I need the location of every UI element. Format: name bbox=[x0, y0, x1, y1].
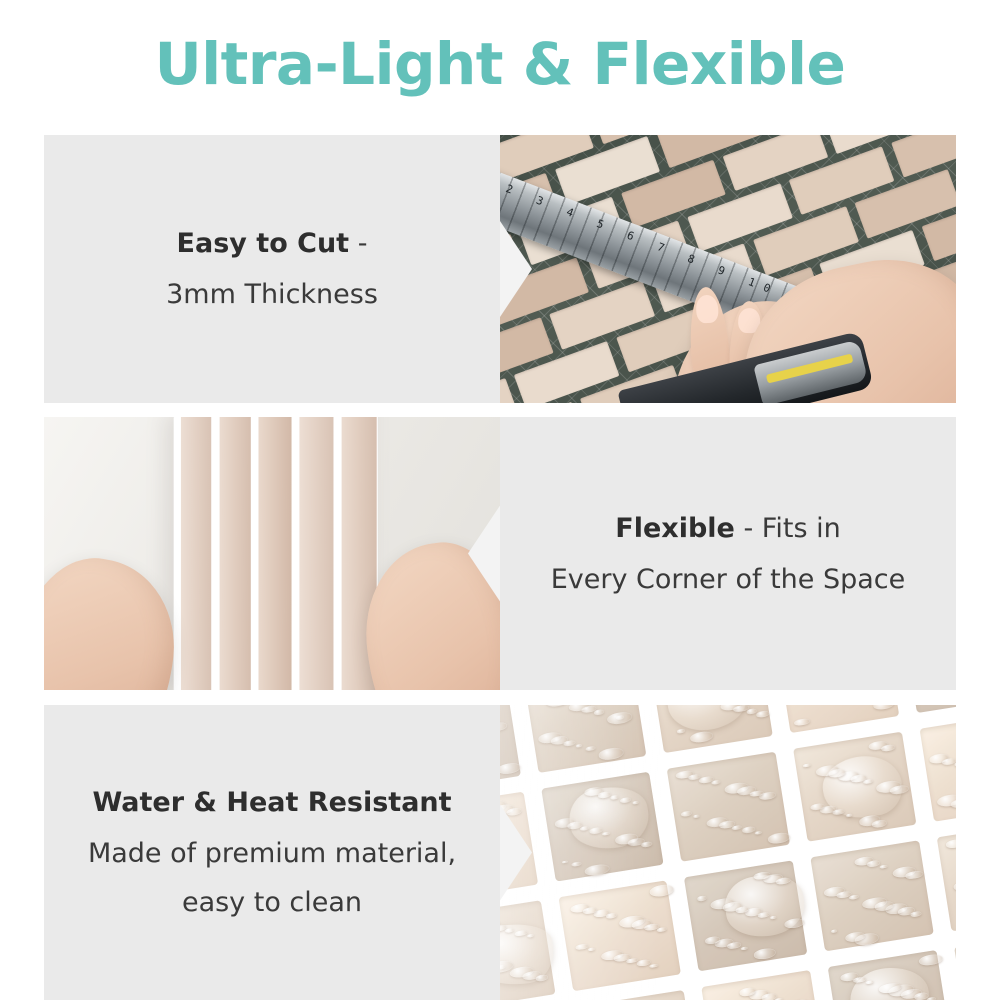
feature-row-flexible: Flexible - Fits in Every Corner of the S… bbox=[44, 417, 956, 690]
caption-bold-easy-to-cut: Easy to Cut bbox=[177, 228, 350, 259]
feature-text-water-heat: Water & Heat Resistant Made of premium m… bbox=[44, 705, 500, 1000]
tile-cell bbox=[954, 930, 956, 1000]
caption-line-2: 3mm Thickness bbox=[166, 279, 378, 310]
tile-cell bbox=[902, 705, 956, 713]
caption-rest: Fits in bbox=[762, 513, 841, 544]
caption-line-1: Water & Heat Resistant bbox=[92, 787, 451, 818]
caption-line-2: Made of premium material, bbox=[88, 838, 456, 869]
photo-bending-panel bbox=[44, 417, 500, 690]
caption-dash: - bbox=[358, 228, 368, 259]
tile-strip bbox=[259, 417, 292, 690]
feature-photo-flexible bbox=[44, 417, 500, 690]
header: Ultra-Light & Flexible bbox=[0, 34, 1000, 95]
fingernail bbox=[696, 294, 719, 324]
feature-row-easy-to-cut: Easy to Cut - 3mm Thickness 1 2 3 4 5 6 … bbox=[44, 135, 956, 403]
caption-line-3: easy to clean bbox=[182, 887, 362, 918]
caption-bold-flexible: Flexible bbox=[615, 513, 735, 544]
caption-line-1: Easy to Cut - bbox=[177, 228, 368, 259]
tile-surface bbox=[500, 705, 956, 1000]
caption-line-2: Every Corner of the Space bbox=[551, 564, 906, 595]
tile-cell bbox=[667, 751, 790, 862]
caption-dash: - bbox=[743, 513, 753, 544]
grout-line bbox=[292, 417, 299, 690]
tile-cell bbox=[558, 881, 681, 992]
feature-photo-easy-to-cut: 1 2 3 4 5 6 7 8 9 10 1 2 3 4 5 6 7 8 bbox=[500, 135, 956, 403]
tile-strip bbox=[219, 417, 251, 690]
feature-text-easy-to-cut: Easy to Cut - 3mm Thickness bbox=[44, 135, 500, 403]
tile-cell bbox=[575, 990, 698, 1000]
feature-photo-water-heat bbox=[500, 705, 956, 1000]
tile-panel-bent bbox=[174, 417, 378, 690]
tile-cell bbox=[936, 821, 956, 932]
page-title: Ultra-Light & Flexible bbox=[155, 34, 846, 95]
tile-strip bbox=[181, 417, 212, 690]
grout-line bbox=[212, 417, 219, 690]
feature-row-water-heat-resistant: Water & Heat Resistant Made of premium m… bbox=[44, 705, 956, 1000]
caption-line-1: Flexible - Fits in bbox=[615, 513, 840, 544]
grout-line bbox=[334, 417, 342, 690]
feature-text-flexible: Flexible - Fits in Every Corner of the S… bbox=[500, 417, 956, 690]
photo-cutting-tile: 1 2 3 4 5 6 7 8 9 10 1 2 3 4 5 6 7 8 bbox=[500, 135, 956, 403]
tile-strip bbox=[300, 417, 334, 690]
tile-cell bbox=[500, 705, 521, 793]
water-droplet bbox=[954, 762, 956, 767]
tile-brick bbox=[500, 378, 518, 403]
grout-line bbox=[174, 417, 181, 690]
photo-water-droplets bbox=[500, 705, 956, 1000]
product-infographic: Ultra-Light & Flexible Easy to Cut - 3mm… bbox=[0, 0, 1000, 1000]
